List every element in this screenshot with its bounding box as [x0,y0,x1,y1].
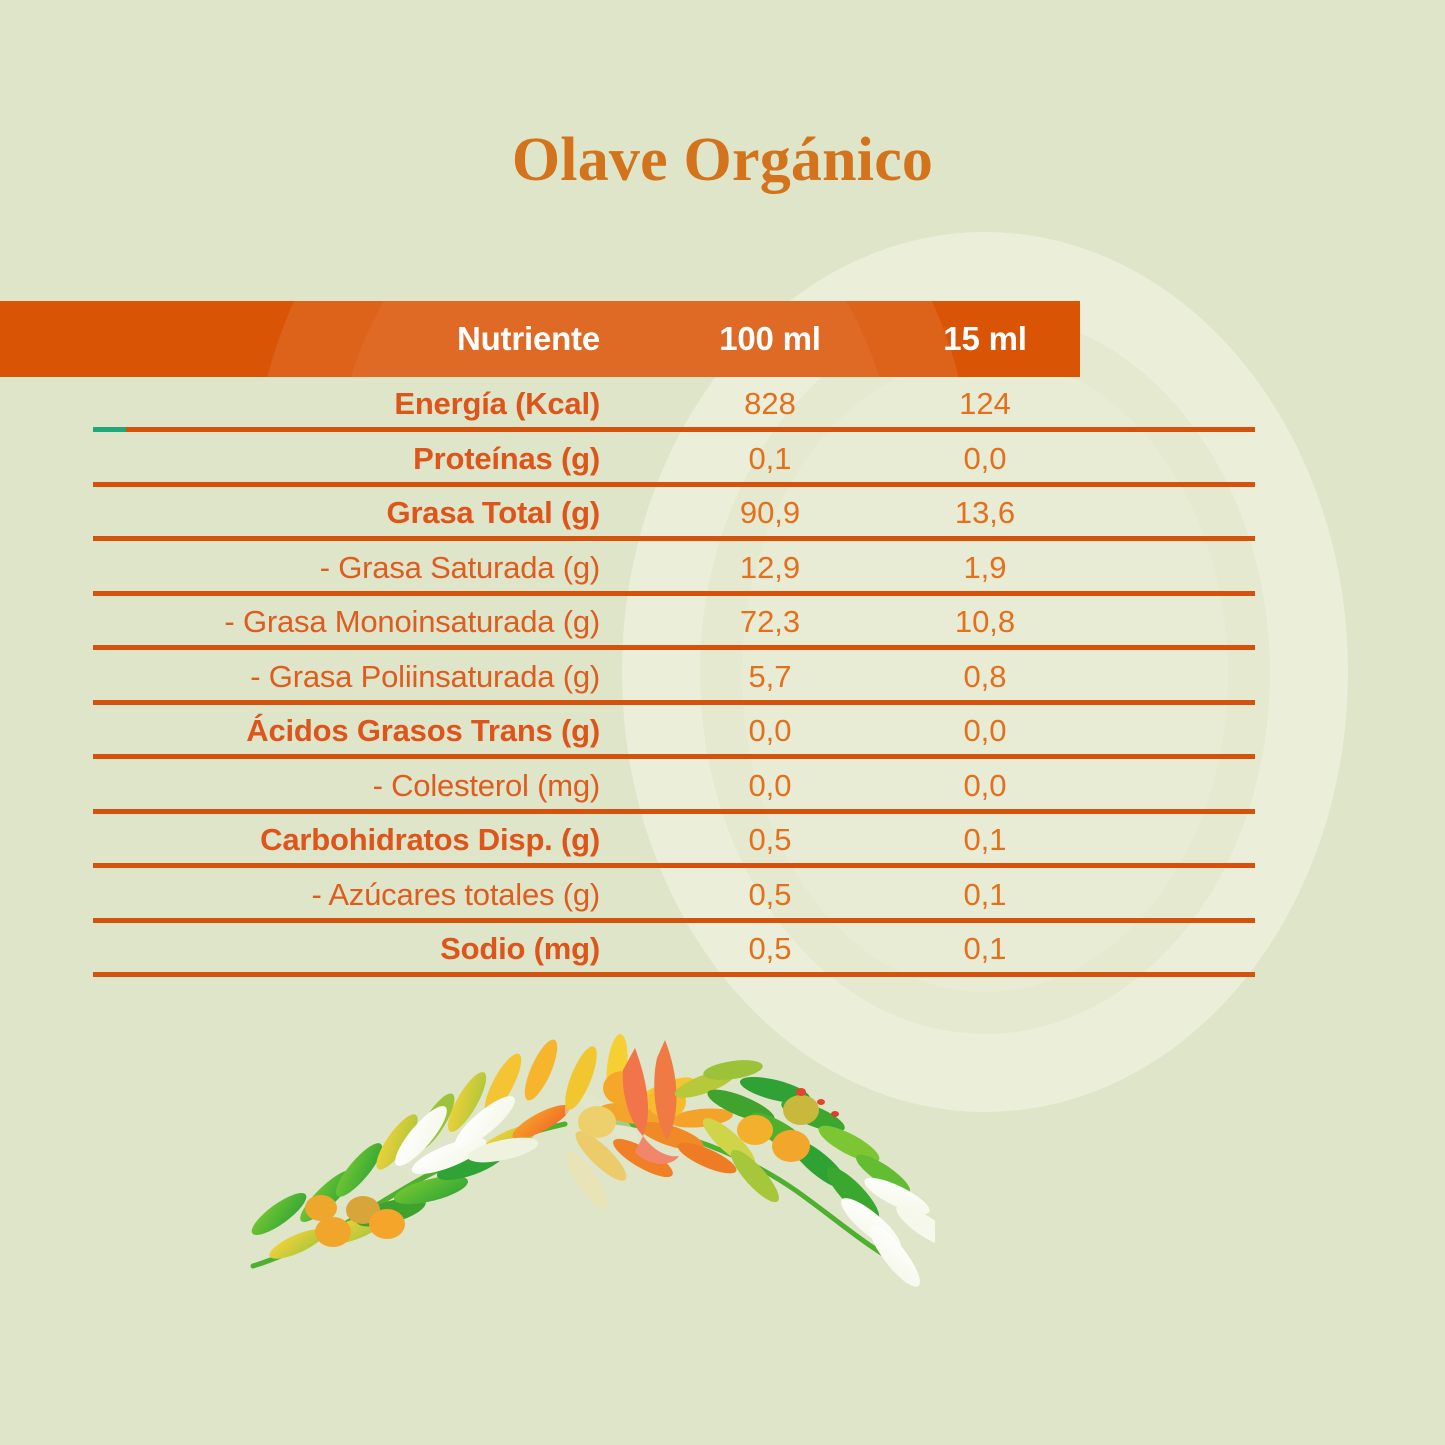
nutrient-label: - Colesterol (mg) [60,759,600,814]
value-15ml: 0,8 [905,650,1065,705]
table-header-bar: Nutriente 100 ml 15 ml [0,301,1080,377]
olive-branch-illustration [235,1018,935,1288]
table-row: - Azúcares totales (g)0,50,1 [0,868,1445,923]
nutrient-label: Grasa Total (g) [60,486,600,541]
nutrient-label: - Grasa Saturada (g) [60,541,600,596]
table-row: - Grasa Monoinsaturada (g)72,310,8 [0,595,1445,650]
value-100ml: 0,0 [690,704,850,759]
table-row: Sodio (mg)0,50,1 [0,922,1445,977]
column-header-100ml: 100 ml [690,301,850,377]
value-100ml: 5,7 [690,650,850,705]
value-15ml: 124 [905,377,1065,432]
nutrient-label: Ácidos Grasos Trans (g) [60,704,600,759]
value-100ml: 0,5 [690,868,850,923]
value-100ml: 0,1 [690,432,850,487]
nutrition-label-canvas: Olave Orgánico Nutriente 100 ml 15 ml En… [0,0,1445,1445]
value-100ml: 0,5 [690,922,850,977]
table-row: Carbohidratos Disp. (g)0,50,1 [0,813,1445,868]
table-row: Energía (Kcal)828124 [0,377,1445,432]
value-100ml: 72,3 [690,595,850,650]
table-row: - Grasa Saturada (g)12,91,9 [0,541,1445,596]
table-row: Grasa Total (g)90,913,6 [0,486,1445,541]
value-100ml: 828 [690,377,850,432]
value-15ml: 10,8 [905,595,1065,650]
table-row: Ácidos Grasos Trans (g)0,00,0 [0,704,1445,759]
value-100ml: 0,0 [690,759,850,814]
page-title: Olave Orgánico [0,125,1445,196]
value-15ml: 0,1 [905,868,1065,923]
table-row: - Colesterol (mg)0,00,0 [0,759,1445,814]
value-15ml: 0,1 [905,922,1065,977]
value-15ml: 0,0 [905,704,1065,759]
nutrition-table: Energía (Kcal)828124Proteínas (g)0,10,0G… [0,377,1445,977]
nutrient-label: - Grasa Poliinsaturada (g) [60,650,600,705]
value-100ml: 0,5 [690,813,850,868]
value-100ml: 12,9 [690,541,850,596]
nutrient-label: Energía (Kcal) [60,377,600,432]
value-15ml: 0,0 [905,432,1065,487]
value-100ml: 90,9 [690,486,850,541]
nutrient-label: - Azúcares totales (g) [60,868,600,923]
nutrient-label: Carbohidratos Disp. (g) [60,813,600,868]
row-divider [93,972,1255,977]
column-header-nutriente: Nutriente [170,301,600,377]
nutrient-label: Proteínas (g) [60,432,600,487]
column-header-15ml: 15 ml [905,301,1065,377]
nutrient-label: - Grasa Monoinsaturada (g) [60,595,600,650]
table-header-row: Nutriente 100 ml 15 ml [0,301,1080,377]
value-15ml: 13,6 [905,486,1065,541]
value-15ml: 1,9 [905,541,1065,596]
table-row: - Grasa Poliinsaturada (g)5,70,8 [0,650,1445,705]
value-15ml: 0,0 [905,759,1065,814]
table-row: Proteínas (g)0,10,0 [0,432,1445,487]
value-15ml: 0,1 [905,813,1065,868]
nutrient-label: Sodio (mg) [60,922,600,977]
